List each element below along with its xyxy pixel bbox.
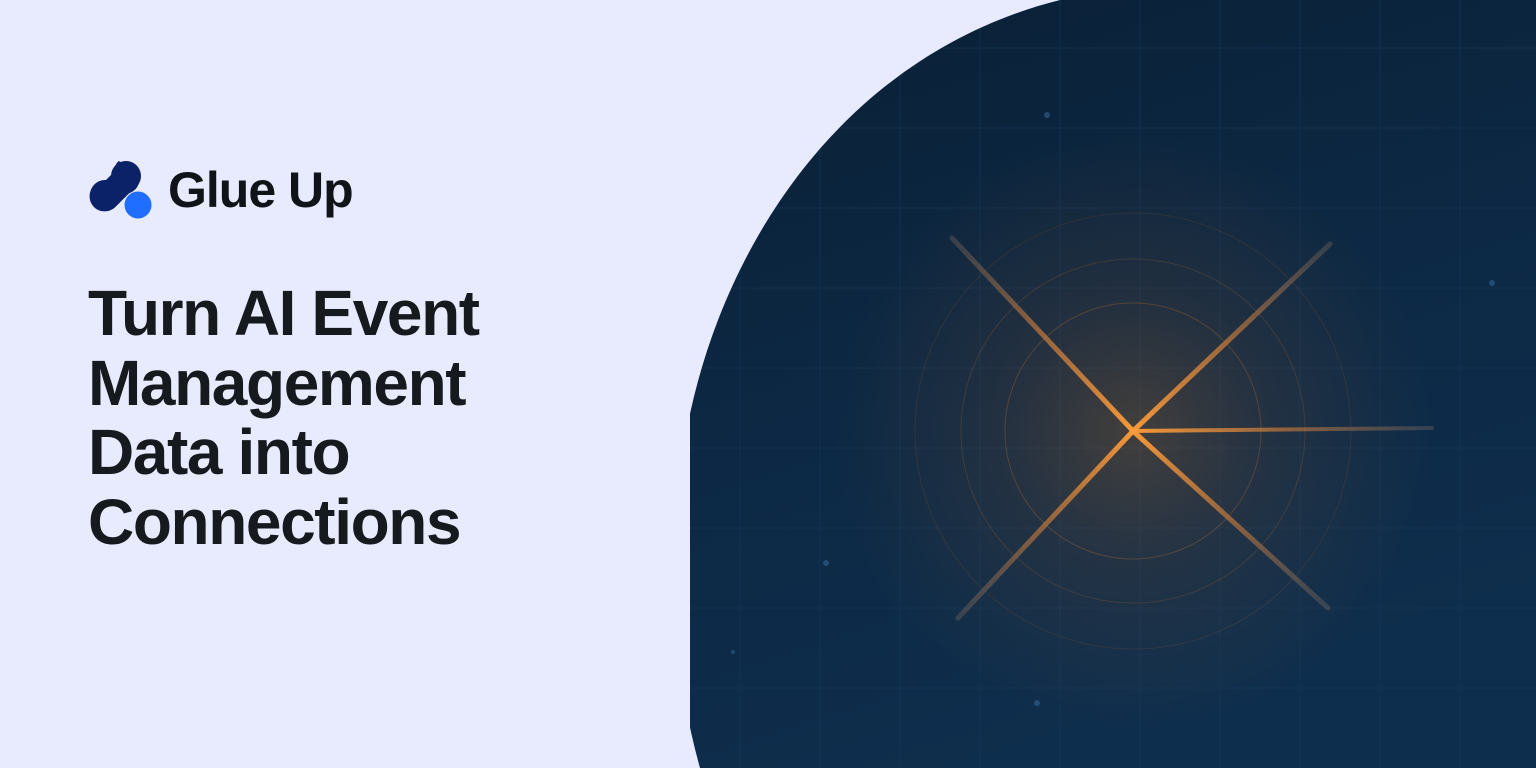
brand-name: Glue Up xyxy=(168,165,353,215)
glueup-logo-icon xyxy=(88,158,154,222)
headline-line-2: Management xyxy=(88,349,648,419)
brand-logo[interactable]: Glue Up xyxy=(88,158,353,222)
page-title: Turn AI Event Management Data into Conne… xyxy=(88,279,648,558)
headline-line-1: Turn AI Event xyxy=(88,279,648,349)
hero-text-pane: Glue Up Turn AI Event Management Data in… xyxy=(0,0,700,768)
headline-line-4: Connections xyxy=(88,488,648,558)
hero-banner: AI xyxy=(0,0,1536,768)
headline-line-3: Data into xyxy=(88,418,648,488)
